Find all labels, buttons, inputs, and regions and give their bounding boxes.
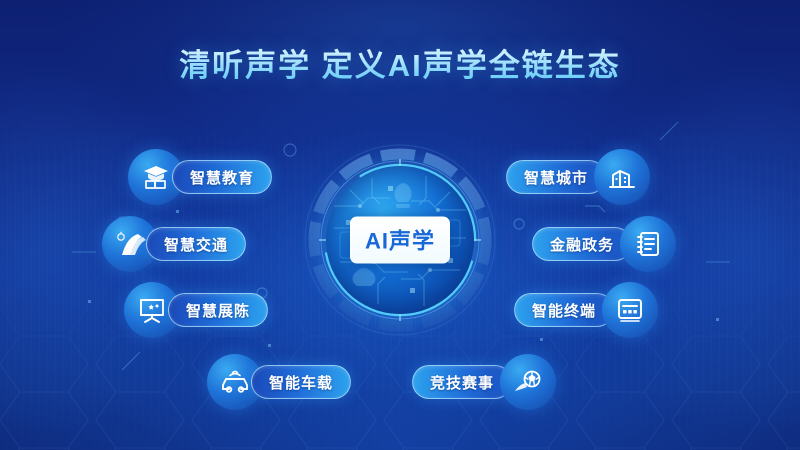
node-label-smart-exhibition[interactable]: 智慧展陈 [168,293,268,327]
node-smart-city[interactable]: 智慧城市 [506,157,650,197]
soccer-ball-icon [500,354,556,410]
terminal-device-icon [602,282,658,338]
node-competitive-events[interactable]: 竞技赛事 [412,362,556,402]
node-label-smart-education[interactable]: 智慧教育 [172,160,272,194]
node-smart-exhibition[interactable]: 智慧展陈 [124,290,268,330]
node-label-smart-city[interactable]: 智慧城市 [506,160,606,194]
node-smart-education[interactable]: 智慧教育 [128,157,272,197]
city-building-icon [594,149,650,205]
node-finance-government[interactable]: 金融政务 [532,224,676,264]
hub-core-disc: AI声学 [326,166,474,314]
node-label-smart-vehicle[interactable]: 智能车载 [251,365,351,399]
node-label-finance-government[interactable]: 金融政务 [532,227,632,261]
node-label-smart-transportation[interactable]: 智慧交通 [146,227,246,261]
ledger-book-icon [620,216,676,272]
poster-canvas: 清听声学 定义AI声学全链生态 [0,0,800,450]
node-smart-terminal[interactable]: 智能终端 [514,290,658,330]
page-title: 清听声学 定义AI声学全链生态 [0,40,800,85]
node-label-competitive-events[interactable]: 竞技赛事 [412,365,512,399]
node-label-smart-terminal[interactable]: 智能终端 [514,293,614,327]
center-hub: AI声学 [303,143,497,337]
node-smart-transportation[interactable]: 智慧交通 [102,224,246,264]
node-smart-vehicle[interactable]: 智能车载 [207,362,351,402]
hub-label: AI声学 [350,217,450,264]
